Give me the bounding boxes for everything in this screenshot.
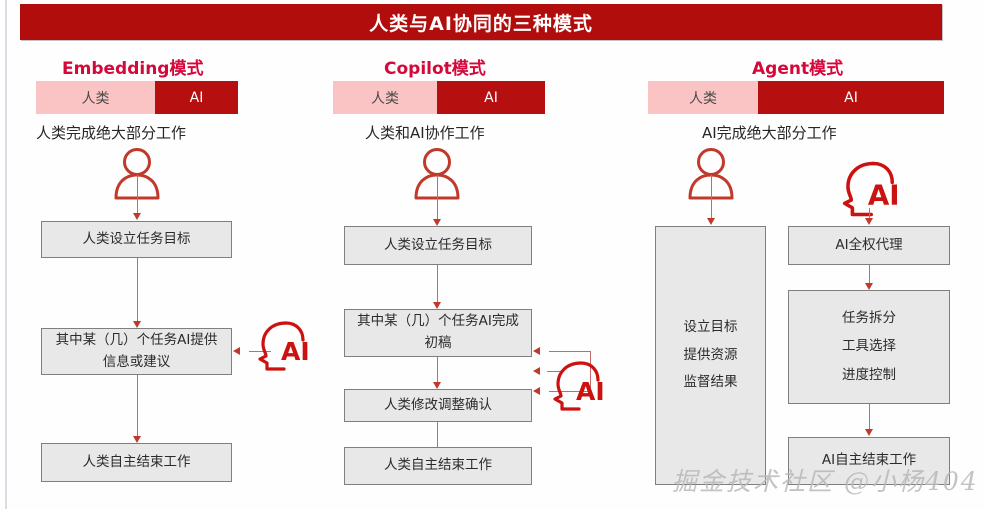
flow-box-line: 提供资源 [684,346,738,366]
flow-box: 人类自主结束工作 [344,447,532,485]
connector-line [137,258,138,322]
connector-arrow [865,283,873,290]
flow-box: 人类设立任务目标 [41,221,232,258]
connector-line [549,351,591,352]
flow-box-line: 工具选择 [842,337,896,357]
connector-line [437,265,438,303]
connector-arrow [533,347,540,355]
ratio-ai-segment-embedding: AI [155,81,238,114]
flow-box-line: 设立目标 [684,318,738,338]
flow-box-line: 任务拆分 [842,309,896,329]
svg-text:AI: AI [868,179,898,212]
connector-arrow [433,382,441,389]
flow-box-line: 监督结果 [684,373,738,393]
watermark: 掘金技术社区 @小杨404 [672,462,979,498]
connector-line [869,404,870,430]
column-title-agent: Agent模式 [752,54,843,79]
connector-line [137,175,138,214]
connector-arrow [707,218,715,225]
column-title-embedding: Embedding模式 [62,54,203,79]
ratio-ai-segment-copilot: AI [437,81,545,114]
ratio-human-segment-agent: 人类 [648,81,758,114]
flow-box-line: 人类自主结束工作 [83,453,191,473]
diagram-canvas: 人类与AI协同的三种模式 Embedding模式 人类 AI 人类完成绝大部分工… [0,0,984,509]
connector-arrow [865,218,873,225]
column-title-copilot: Copilot模式 [384,54,486,79]
connector-arrow [133,436,141,443]
flow-box: 其中某（几）个任务AI完成 初稿 [344,309,532,357]
ratio-human-label-embedding: 人类 [82,88,110,108]
connector-arrow [133,213,141,220]
flow-box: 其中某（几）个任务AI提供 信息或建议 [41,328,232,375]
connector-arrow [433,302,441,309]
flow-box-line: 人类修改调整确认 [384,396,492,416]
ratio-human-label-copilot: 人类 [371,88,399,108]
flow-box-line: 进度控制 [842,366,896,386]
flow-box: 人类自主结束工作 [41,443,232,482]
flow-box-human-responsibilities: 设立目标 提供资源 监督结果 [655,226,766,485]
connector-arrow [533,367,540,375]
flow-box-line: 初稿 [357,334,519,354]
diagram-title-bar: 人类与AI协同的三种模式 [20,4,942,40]
ratio-human-segment-copilot: 人类 [333,81,437,114]
connector-arrow [233,347,240,355]
connector-line [869,265,870,284]
flow-box-line: AI全权代理 [835,236,902,256]
flow-box-line: 人类设立任务目标 [384,236,492,256]
caption-embedding: 人类完成绝大部分工作 [36,122,186,143]
ratio-bar-agent: 人类 AI [648,81,944,114]
ratio-human-label-agent: 人类 [689,88,717,108]
ai-head-icon: AI [551,358,603,419]
connector-line [437,357,438,383]
flow-box-line: 人类自主结束工作 [384,456,492,476]
ratio-ai-label-copilot: AI [484,90,498,106]
flow-box: 任务拆分 工具选择 进度控制 [788,290,950,404]
caption-agent: AI完成绝大部分工作 [702,122,837,143]
ratio-ai-segment-agent: AI [758,81,944,114]
caption-copilot: 人类和AI协作工作 [365,122,485,143]
connector-arrow [533,387,540,395]
connector-arrow [433,219,441,226]
svg-text:AI: AI [281,337,308,366]
ratio-ai-label-agent: AI [844,90,858,106]
flow-box: 人类修改调整确认 [344,389,532,422]
ai-head-icon: AI [256,318,308,379]
ratio-human-segment-embedding: 人类 [36,81,155,114]
svg-text:AI: AI [576,377,603,406]
flow-box: 人类设立任务目标 [344,226,532,265]
connector-line [711,175,712,219]
ratio-bar-embedding: 人类 AI [36,81,238,114]
flow-box-line: 其中某（几）个任务AI完成 [357,312,519,332]
flow-box: AI全权代理 [788,226,950,265]
flow-box-line: 信息或建议 [56,353,218,373]
ratio-ai-label-embedding: AI [190,90,204,106]
connector-line [437,175,438,220]
connector-arrow [133,321,141,328]
flow-box-line: 人类设立任务目标 [83,230,191,250]
page-left-rule [5,0,7,509]
ratio-bar-copilot: 人类 AI [333,81,545,114]
connector-line [437,422,438,448]
flow-box-line: 其中某（几）个任务AI提供 [56,331,218,351]
connector-arrow [865,429,873,436]
connector-line [137,375,138,437]
page-title: 人类与AI协同的三种模式 [369,9,593,36]
